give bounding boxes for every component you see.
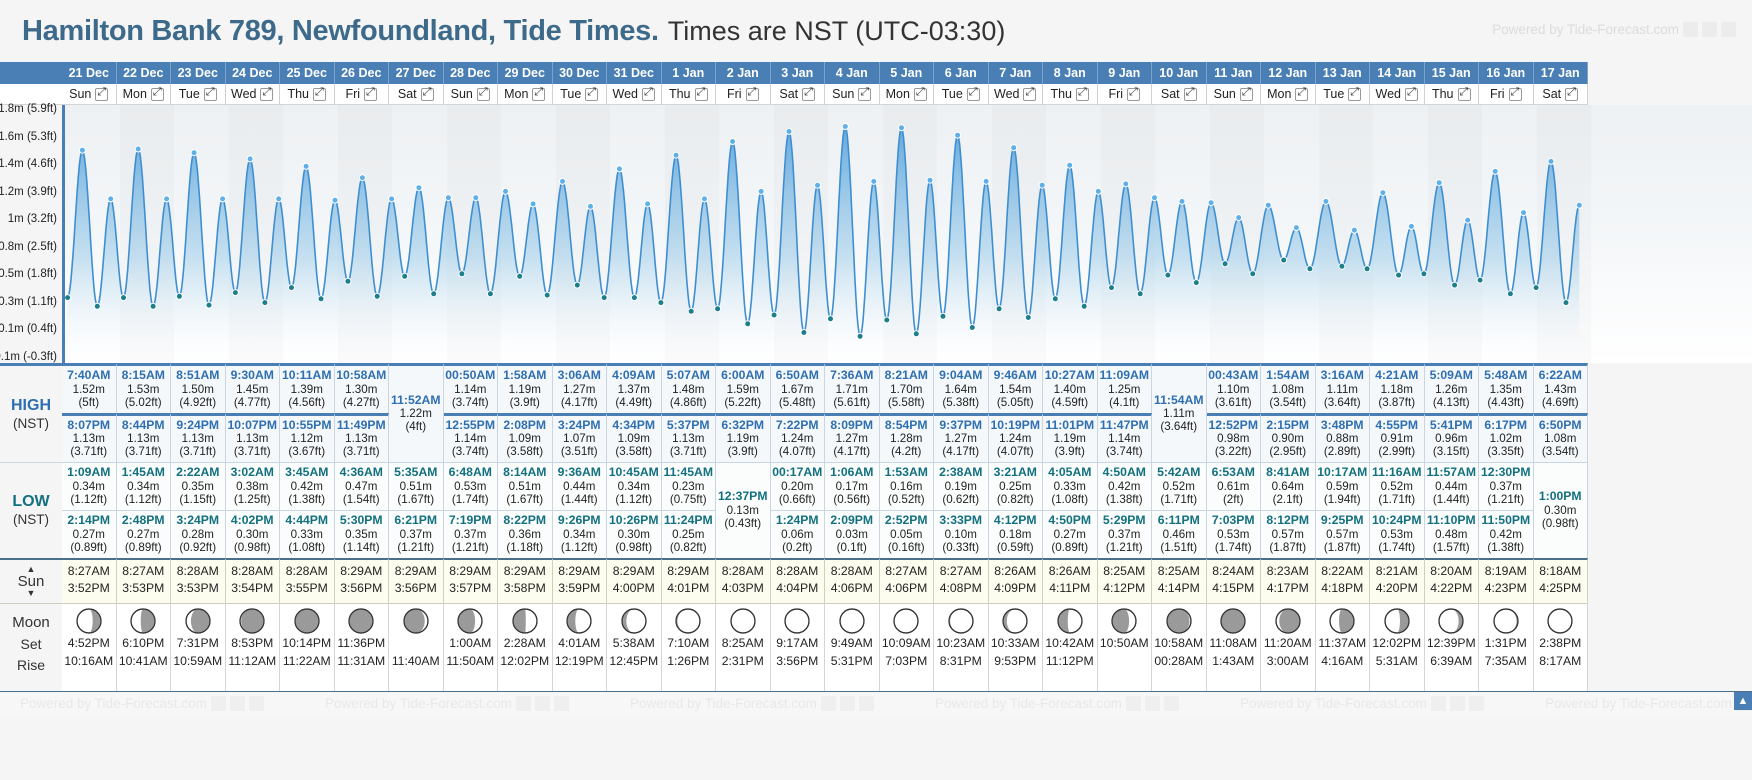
low-tide-meters: 0.35m — [335, 528, 389, 541]
sunset-time: 4:22PM — [1425, 580, 1479, 598]
low-tide-point — [1281, 257, 1287, 263]
high-tide-cell: 10:19PM1.24m(4.07ft) — [989, 413, 1044, 463]
expand-icon[interactable] — [1565, 88, 1578, 101]
footer-powered-by: Powered by Tide-Forecast.com — [1545, 696, 1752, 711]
expand-icon[interactable] — [642, 88, 655, 101]
low-tide-cell: 4:12PM0.18m(0.59ft) — [989, 510, 1044, 558]
moon-phase-icon — [662, 608, 716, 634]
low-tide-day-column: 4:05AM0.33m(1.08ft)4:50PM0.27m(0.89ft) — [1043, 462, 1098, 557]
low-tide-cell: 00:17AM0.20m(0.66ft) — [771, 462, 826, 510]
sun-row: ▲ Sun ▼ 8:27AM3:52PM8:27AM3:53PM8:28AM3:… — [0, 558, 1752, 603]
high-tide-point — [108, 196, 114, 202]
weekday-cell-fri[interactable]: Fri — [1479, 84, 1534, 105]
weekday-cell-sat[interactable]: Sat — [771, 84, 826, 105]
expand-icon[interactable] — [1127, 88, 1140, 101]
high-tide-cell: 7:36AM1.71m(5.61ft) — [825, 363, 880, 413]
high-tide-meters: 0.88m — [1316, 432, 1370, 445]
weekday-cell-tue[interactable]: Tue — [171, 84, 226, 105]
low-tide-time: 12:37PM — [716, 490, 770, 504]
windguru-icon — [516, 696, 531, 711]
moonrise-time: 10:41AM — [117, 652, 171, 670]
high-tide-feet: (3.71ft) — [171, 445, 225, 458]
high-tide-cell: 6:32PM1.19m(3.9ft) — [716, 413, 771, 463]
low-tide-time: 10:45AM — [607, 466, 661, 480]
high-tide-time: 3:06AM — [553, 369, 607, 383]
low-tide-feet: (1.94ft) — [1316, 493, 1370, 506]
weekday-text: Wed — [231, 87, 256, 101]
high-tide-meters: 1.13m — [62, 432, 116, 445]
expand-icon[interactable] — [1295, 88, 1308, 101]
high-tide-time: 11:47PM — [1098, 419, 1152, 433]
sunset-time: 4:15PM — [1207, 580, 1261, 598]
sun-cell: 8:28AM3:54PM — [226, 558, 281, 603]
date-header-3-jan[interactable]: 3 Jan — [771, 62, 826, 84]
moon-cell: 1:00AM11:50AM — [444, 603, 499, 691]
expand-icon[interactable] — [421, 88, 434, 101]
low-tide-meters: 0.27m — [117, 528, 171, 541]
high-tide-feet: (3.71ft) — [662, 445, 716, 458]
high-tide-day-column: 00:43AM1.10m(3.61ft)12:52PM0.98m(3.22ft) — [1207, 363, 1262, 462]
expand-icon[interactable] — [477, 88, 490, 101]
high-tide-point — [1265, 202, 1271, 208]
date-header-13-jan[interactable]: 13 Jan — [1316, 62, 1371, 84]
low-tide-meters: 0.59m — [1316, 480, 1370, 493]
weekday-text: Mon — [504, 87, 528, 101]
high-tide-day-column: 7:40AM1.52m(5ft)8:07PM1.13m(3.71ft) — [62, 363, 117, 462]
sun-cell: 8:28AM4:04PM — [771, 558, 826, 603]
page-header: Hamilton Bank 789, Newfoundland, Tide Ti… — [0, 0, 1752, 62]
low-tide-point — [828, 316, 834, 322]
high-tide-meters: 0.90m — [1261, 432, 1315, 445]
expand-icon[interactable] — [313, 88, 326, 101]
low-tide-feet: (0.82ft) — [662, 541, 716, 554]
refresh-icon — [1702, 22, 1717, 37]
high-tide-cell: 9:37PM1.27m(4.17ft) — [934, 413, 989, 463]
date-header-4-jan[interactable]: 4 Jan — [825, 62, 880, 84]
high-tide-meters: 1.59m — [716, 383, 770, 396]
high-tide-cell: 00:43AM1.10m(3.61ft) — [1207, 363, 1262, 413]
weekday-text: Thu — [669, 87, 691, 101]
date-header-14-jan[interactable]: 14 Jan — [1370, 62, 1425, 84]
low-tide-feet: (1.74ft) — [1207, 541, 1261, 554]
high-tide-time: 8:07PM — [62, 419, 116, 433]
low-tide-time: 6:21PM — [389, 514, 443, 528]
moon-cell: 9:49AM5:31PM — [825, 603, 880, 691]
powered-by-label: Powered by Tide-Forecast.com — [1492, 22, 1736, 37]
low-tide-meters: 0.53m — [1370, 528, 1424, 541]
high-tide-meters: 1.45m — [226, 383, 280, 396]
sunrise-time: 8:27AM — [62, 563, 116, 581]
high-tide-feet: (4.17ft) — [825, 445, 879, 458]
weekday-cell-sun[interactable]: Sun — [62, 84, 117, 105]
high-tide-time: 4:55PM — [1370, 419, 1424, 433]
weekday-cell-sun[interactable]: Sun — [1207, 84, 1262, 105]
date-header-5-jan[interactable]: 5 Jan — [880, 62, 935, 84]
high-tide-feet: (4.07ft) — [771, 445, 825, 458]
expand-icon[interactable] — [1240, 88, 1253, 101]
low-tide-time: 1:24PM — [771, 514, 825, 528]
low-tide-feet: (1.21ft) — [444, 541, 498, 554]
high-tide-cell: 6:22AM1.43m(4.69ft) — [1534, 363, 1589, 413]
high-tide-meters: 1.13m — [226, 432, 280, 445]
weekday-text: Sun — [69, 87, 91, 101]
moonset-time: 10:33AM — [989, 634, 1043, 652]
sun-cell: 8:25AM4:14PM — [1152, 558, 1207, 603]
date-header-23-dec[interactable]: 23 Dec — [171, 62, 226, 84]
expand-icon[interactable] — [1509, 88, 1522, 101]
low-tide-feet: (1.12ft) — [62, 493, 116, 506]
moonset-time: 8:25AM — [716, 634, 770, 652]
weekday-cell-sun[interactable]: Sun — [444, 84, 499, 105]
high-tide-time: 8:09PM — [825, 419, 879, 433]
weekday-cell-sat[interactable]: Sat — [1152, 84, 1207, 105]
date-header-6-jan[interactable]: 6 Jan — [934, 62, 989, 84]
sun-cell: 8:18AM4:25PM — [1534, 558, 1589, 603]
date-header-21-dec[interactable]: 21 Dec — [62, 62, 117, 84]
high-tide-feet: (3.22ft) — [1207, 445, 1261, 458]
high-tide-point — [955, 132, 961, 138]
date-header-22-dec[interactable]: 22 Dec — [117, 62, 172, 84]
moonrise-time: 5:31AM — [1370, 652, 1424, 670]
expand-icon[interactable] — [585, 88, 598, 101]
low-tide-time: 11:50PM — [1479, 514, 1533, 528]
weekday-cell-sun[interactable]: Sun — [825, 84, 880, 105]
expand-icon[interactable] — [746, 88, 759, 101]
weekday-cell-fri[interactable]: Fri — [716, 84, 771, 105]
moonrise-time: 10:16AM — [62, 652, 116, 670]
high-tide-feet: (4.69ft) — [1534, 396, 1588, 409]
weekday-text: Sat — [398, 87, 417, 101]
date-header-8-jan[interactable]: 8 Jan — [1043, 62, 1098, 84]
expand-icon[interactable] — [802, 88, 815, 101]
weekday-cell-sat[interactable]: Sat — [1534, 84, 1589, 105]
date-header-27-dec[interactable]: 27 Dec — [389, 62, 444, 84]
refresh-icon — [535, 696, 550, 711]
high-tide-cell: 11:09AM1.25m(4.1ft) — [1098, 363, 1153, 413]
footer-powered-text: Powered by Tide-Forecast.com — [935, 696, 1122, 711]
weekday-cell-sat[interactable]: Sat — [389, 84, 444, 105]
low-tide-time: 10:24PM — [1370, 514, 1424, 528]
moon-cell: 11:40AM — [389, 603, 444, 691]
high-tide-feet: (3.71ft) — [117, 445, 171, 458]
sunrise-time: 8:29AM — [335, 563, 389, 581]
low-tide-cell: 9:26PM0.34m(1.12ft) — [553, 510, 608, 558]
high-tide-time: 8:54PM — [880, 419, 934, 433]
low-tide-time: 11:16AM — [1370, 466, 1424, 480]
date-header-7-jan[interactable]: 7 Jan — [989, 62, 1044, 84]
low-tide-point — [1193, 280, 1199, 286]
high-tide-point — [1408, 223, 1414, 229]
low-tide-cell: 5:29PM0.37m(1.21ft) — [1098, 510, 1153, 558]
moon-phase-icon — [989, 608, 1043, 634]
low-tide-meters: 0.44m — [553, 480, 607, 493]
sunrise-time: 8:29AM — [553, 563, 607, 581]
weekday-text: Fri — [1490, 87, 1505, 101]
low-tide-label: LOW (NST) — [0, 462, 62, 557]
low-tide-feet: (1.44ft) — [1425, 493, 1479, 506]
weekday-cell-thu[interactable]: Thu — [662, 84, 717, 105]
high-tide-meters: 1.26m — [1425, 383, 1479, 396]
date-header-16-jan[interactable]: 16 Jan — [1479, 62, 1534, 84]
expand-icon[interactable] — [260, 88, 273, 101]
weekday-cell-wed[interactable]: Wed — [226, 84, 281, 105]
date-header-31-dec[interactable]: 31 Dec — [607, 62, 662, 84]
weekday-cell-wed[interactable]: Wed — [989, 84, 1044, 105]
sun-cell: 8:29AM3:59PM — [553, 558, 608, 603]
high-tide-cell: 12:55PM1.14m(3.74ft) — [444, 413, 499, 463]
moonrise-time: 9:53PM — [989, 652, 1043, 670]
weekday-cell-fri[interactable]: Fri — [1098, 84, 1153, 105]
low-tide-point — [262, 300, 268, 306]
high-tide-feet: (3.9ft) — [716, 445, 770, 458]
high-tide-time: 10:19PM — [989, 419, 1043, 433]
high-tide-meters: 1.27m — [934, 432, 988, 445]
sunset-time: 3:52PM — [62, 580, 116, 598]
sunrise-time: 8:23AM — [1261, 563, 1315, 581]
high-tide-feet: (5.61ft) — [825, 396, 879, 409]
low-tide-cell: 1:53AM0.16m(0.52ft) — [880, 462, 935, 510]
weekday-cell-thu[interactable]: Thu — [1043, 84, 1098, 105]
high-tide-point — [1152, 195, 1158, 201]
sunrise-time: 8:29AM — [498, 563, 552, 581]
low-tide-meters: 0.61m — [1207, 480, 1261, 493]
date-header-17-jan[interactable]: 17 Jan — [1534, 62, 1589, 84]
date-header-30-dec[interactable]: 30 Dec — [553, 62, 608, 84]
high-tide-feet: (3.71ft) — [335, 445, 389, 458]
weekday-cell-tue[interactable]: Tue — [553, 84, 608, 105]
low-tide-cell: 10:17AM0.59m(1.94ft) — [1316, 462, 1371, 510]
expand-icon[interactable] — [1348, 88, 1361, 101]
low-tide-day-column: 1:00PM0.30m(0.98ft) — [1534, 462, 1589, 557]
low-tide-cell: 10:26PM0.30m(0.98ft) — [607, 510, 662, 558]
high-tide-time: 8:44PM — [117, 419, 171, 433]
high-tide-feet: (4.13ft) — [1425, 396, 1479, 409]
weekday-cell-tue[interactable]: Tue — [1316, 84, 1371, 105]
weekday-cell-mon[interactable]: Mon — [498, 84, 553, 105]
weekday-cell-wed[interactable]: Wed — [607, 84, 662, 105]
low-tide-point — [121, 295, 127, 301]
weekday-gutter — [0, 84, 62, 105]
high-tide-feet: (3.35ft) — [1479, 445, 1533, 458]
high-tide-meters: 1.43m — [1534, 383, 1588, 396]
high-tide-point — [899, 125, 905, 131]
high-tide-meters: 1.50m — [171, 383, 225, 396]
weekday-cell-tue[interactable]: Tue — [934, 84, 989, 105]
high-tide-meters: 1.11m — [1152, 407, 1206, 420]
moonset-time: 11:37AM — [1316, 634, 1370, 652]
high-tide-meters: 1.48m — [662, 383, 716, 396]
footer-powered-by: Powered by Tide-Forecast.com — [630, 696, 874, 711]
high-tide-row: HIGH (NST) 7:40AM1.52m(5ft)8:07PM1.13m(3… — [0, 363, 1752, 462]
high-tide-feet: (2.89ft) — [1316, 445, 1370, 458]
moon-phase-icon — [444, 608, 498, 634]
low-tide-cell: 11:10PM0.48m(1.57ft) — [1425, 510, 1480, 558]
weekday-cell-wed[interactable]: Wed — [1370, 84, 1425, 105]
high-tide-meters: 1.02m — [1479, 432, 1533, 445]
high-tide-day-column: 5:48AM1.35m(4.43ft)6:17PM1.02m(3.35ft) — [1479, 363, 1534, 462]
low-tide-day-column: 12:30PM0.37m(1.21ft)11:50PM0.42m(1.38ft) — [1479, 462, 1534, 557]
low-tide-cell: 8:14AM0.51m(1.67ft) — [498, 462, 553, 510]
low-tide-day-column: 9:36AM0.44m(1.44ft)9:26PM0.34m(1.12ft) — [553, 462, 608, 557]
expand-icon[interactable] — [1076, 88, 1089, 101]
high-tide-feet: (4.2ft) — [880, 445, 934, 458]
low-tide-point — [1109, 285, 1115, 291]
expand-icon[interactable] — [1458, 88, 1471, 101]
weekday-cell-mon[interactable]: Mon — [880, 84, 935, 105]
sun-cell: 8:25AM4:12PM — [1098, 558, 1153, 603]
weekday-text: Thu — [1432, 87, 1454, 101]
low-tide-time: 4:05AM — [1043, 466, 1097, 480]
moonset-time: 6:10PM — [117, 634, 171, 652]
expand-icon[interactable] — [364, 88, 377, 101]
y-axis-tick: 1.2m (3.9ft) — [0, 186, 57, 198]
sunrise-time: 8:29AM — [389, 563, 443, 581]
weekday-cell-thu[interactable]: Thu — [1425, 84, 1480, 105]
high-tide-time: 4:09AM — [607, 369, 661, 383]
high-tide-point — [1492, 168, 1498, 174]
footer-powered-text: Powered by Tide-Forecast.com — [630, 696, 817, 711]
windguru-icon — [1126, 696, 1141, 711]
sunset-arrow-icon: ▼ — [27, 589, 36, 598]
expand-icon[interactable] — [204, 88, 217, 101]
moonset-time: 10:58AM — [1152, 634, 1206, 652]
expand-icon[interactable] — [858, 88, 871, 101]
high-tide-feet: (5.02ft) — [117, 396, 171, 409]
high-tide-cell: 9:30AM1.45m(4.77ft) — [226, 363, 281, 413]
moonset-time — [389, 634, 443, 652]
high-tide-time: 6:50PM — [1534, 419, 1588, 433]
low-tide-feet: (0.56ft) — [825, 493, 879, 506]
high-tide-point — [473, 195, 479, 201]
date-header-26-dec[interactable]: 26 Dec — [335, 62, 390, 84]
weekday-cell-fri[interactable]: Fri — [335, 84, 390, 105]
sunset-time: 4:06PM — [825, 580, 879, 598]
high-label-tz: (NST) — [13, 416, 49, 432]
sunset-time: 4:18PM — [1316, 580, 1370, 598]
high-tide-meters: 0.91m — [1370, 432, 1424, 445]
expand-icon[interactable] — [95, 88, 108, 101]
low-tide-day-column: 8:41AM0.64m(2.1ft)8:12PM0.57m(1.87ft) — [1261, 462, 1316, 557]
expand-icon[interactable] — [1023, 88, 1036, 101]
expand-icon[interactable] — [967, 88, 980, 101]
moonrise-time: 3:56PM — [771, 652, 825, 670]
sunrise-time: 8:18AM — [1534, 563, 1588, 581]
low-tide-time: 2:38AM — [934, 466, 988, 480]
expand-icon[interactable] — [532, 88, 545, 101]
date-header-2-jan[interactable]: 2 Jan — [716, 62, 771, 84]
low-tide-meters: 0.27m — [1043, 528, 1097, 541]
expand-icon[interactable] — [1405, 88, 1418, 101]
moon-cell: 5:38AM12:45PM — [607, 603, 662, 691]
high-tide-point — [1011, 145, 1017, 151]
weekday-cell-mon[interactable]: Mon — [1261, 84, 1316, 105]
sun-cell: 8:23AM4:17PM — [1261, 558, 1316, 603]
high-tide-point — [871, 178, 877, 184]
high-tide-point — [191, 150, 197, 156]
date-header-12-jan[interactable]: 12 Jan — [1261, 62, 1316, 84]
date-header-11-jan[interactable]: 11 Jan — [1207, 62, 1262, 84]
high-tide-meters: 1.71m — [825, 383, 879, 396]
tide-chart-page: Hamilton Bank 789, Newfoundland, Tide Ti… — [0, 0, 1752, 780]
low-tide-time: 6:48AM — [444, 466, 498, 480]
expand-icon[interactable] — [914, 88, 927, 101]
moon-phase-icon — [62, 608, 116, 634]
low-tide-feet: (1.14ft) — [335, 541, 389, 554]
low-tide-feet: (1.74ft) — [1370, 541, 1424, 554]
low-tide-day-column: 10:45AM0.34m(1.12ft)10:26PM0.30m(0.98ft) — [607, 462, 662, 557]
date-header-28-dec[interactable]: 28 Dec — [444, 62, 499, 84]
sun-cell: 8:29AM3:57PM — [444, 558, 499, 603]
moon-phase-icon — [607, 608, 661, 634]
low-tide-meters: 0.10m — [934, 528, 988, 541]
high-tide-day-column: 10:27AM1.40m(4.59ft)11:01PM1.19m(3.9ft) — [1043, 363, 1098, 462]
high-tide-cell: 8:21AM1.70m(5.58ft) — [880, 363, 935, 413]
high-tide-time: 11:54AM — [1152, 394, 1206, 408]
moon-phase-icon — [498, 608, 552, 634]
high-tide-time: 2:15PM — [1261, 419, 1315, 433]
high-tide-point — [1236, 215, 1242, 221]
high-tide-day-column: 00:50AM1.14m(3.74ft)12:55PM1.14m(3.74ft) — [444, 363, 499, 462]
sun-cell: 8:28AM3:53PM — [171, 558, 226, 603]
low-tide-time: 2:22AM — [171, 466, 225, 480]
low-tide-time: 3:45AM — [280, 466, 334, 480]
high-tide-cell: 11:01PM1.19m(3.9ft) — [1043, 413, 1098, 463]
sunset-time: 4:20PM — [1370, 580, 1424, 598]
date-header-9-jan[interactable]: 9 Jan — [1098, 62, 1153, 84]
low-tide-day-column: 3:21AM0.25m(0.82ft)4:12PM0.18m(0.59ft) — [989, 462, 1044, 557]
low-tide-meters: 0.51m — [498, 480, 552, 493]
moonset-time: 4:01AM — [553, 634, 607, 652]
expand-icon[interactable] — [695, 88, 708, 101]
date-header-29-dec[interactable]: 29 Dec — [498, 62, 553, 84]
low-tide-time: 2:48PM — [117, 514, 171, 528]
high-tide-meters: 1.40m — [1043, 383, 1097, 396]
moon-cell: 11:20AM3:00AM — [1261, 603, 1316, 691]
expand-icon[interactable] — [1184, 88, 1197, 101]
date-header-10-jan[interactable]: 10 Jan — [1152, 62, 1207, 84]
low-tide-point — [517, 273, 523, 279]
weekday-cell-thu[interactable]: Thu — [280, 84, 335, 105]
sunset-time: 4:12PM — [1098, 580, 1152, 598]
expand-icon[interactable] — [151, 88, 164, 101]
high-tide-time: 3:48PM — [1316, 419, 1370, 433]
high-tide-cell: 5:48AM1.35m(4.43ft) — [1479, 363, 1534, 413]
moonset-time: 8:53PM — [226, 634, 280, 652]
date-header-25-dec[interactable]: 25 Dec — [280, 62, 335, 84]
moon-phase-icon — [1370, 608, 1424, 634]
high-tide-cell: 6:17PM1.02m(3.35ft) — [1479, 413, 1534, 463]
moon-phase-icon — [335, 608, 389, 634]
sunrise-time: 8:26AM — [1043, 563, 1097, 581]
low-tide-point — [771, 312, 777, 318]
high-tide-time: 10:11AM — [280, 369, 334, 383]
date-header-1-jan[interactable]: 1 Jan — [662, 62, 717, 84]
date-header-15-jan[interactable]: 15 Jan — [1425, 62, 1480, 84]
low-tide-point — [1025, 315, 1031, 321]
weekday-cell-mon[interactable]: Mon — [117, 84, 172, 105]
low-tide-point — [1421, 271, 1427, 277]
sun-cell: 8:22AM4:18PM — [1316, 558, 1371, 603]
low-tide-cell: 2:52PM0.05m(0.16ft) — [880, 510, 935, 558]
moon-cell: 8:25AM2:31PM — [716, 603, 771, 691]
high-tide-meters: 1.64m — [934, 383, 988, 396]
sunset-time: 3:53PM — [117, 580, 171, 598]
high-tide-feet: (4.1ft) — [1098, 396, 1152, 409]
high-tide-day-column: 11:09AM1.25m(4.1ft)11:47PM1.14m(3.74ft) — [1098, 363, 1153, 462]
date-header-24-dec[interactable]: 24 Dec — [226, 62, 281, 84]
scroll-right-button[interactable]: ▲ — [1734, 692, 1752, 710]
moonrise-time: 1:43AM — [1207, 652, 1261, 670]
